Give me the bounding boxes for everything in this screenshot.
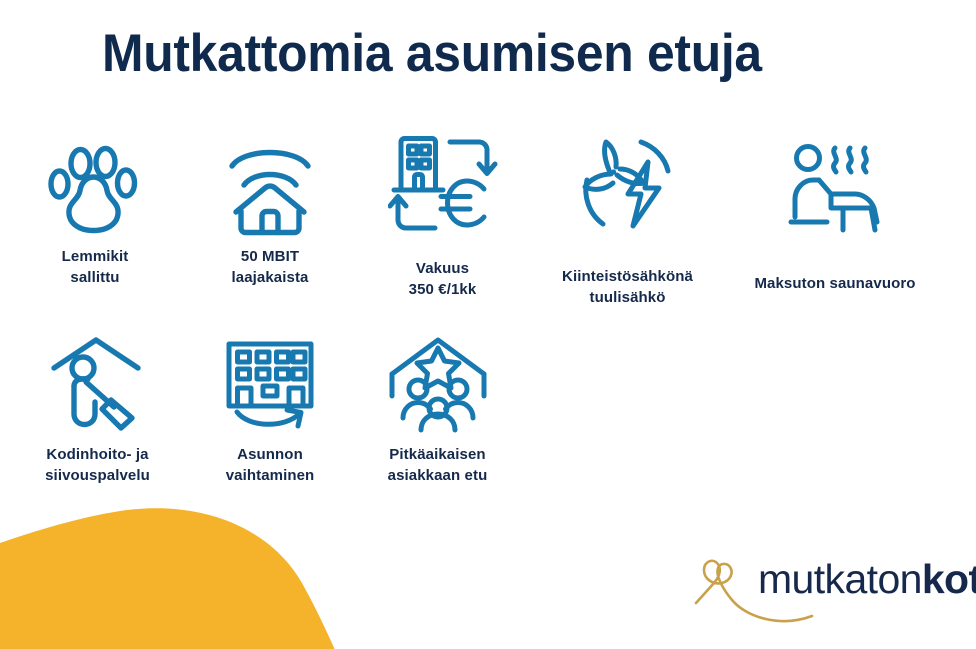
roof-person-mop-icon <box>48 330 148 434</box>
benefit-item-cleaning: Kodinhoito- ja siivouspalvelu <box>0 330 195 486</box>
benefits-row-1: Lemmikit sallittu 50 MBIT laajakaista <box>0 132 976 308</box>
benefit-label: Kiinteistösähkönä tuulisähkö <box>562 266 693 308</box>
benefit-label: Vakuus 350 €/1kk <box>409 258 477 300</box>
building-euro-exchange-icon <box>388 132 498 236</box>
benefits-row-2: Kodinhoito- ja siivouspalvelu <box>0 330 660 486</box>
paw-print-icon <box>45 132 145 236</box>
brand-logo[interactable]: mutkatonkoti <box>684 548 946 628</box>
page-title: Mutkattomia asumisen etuja <box>102 22 762 86</box>
logo-word-bold: koti <box>922 556 976 602</box>
benefit-label: 50 MBIT laajakaista <box>232 246 309 288</box>
benefit-label: Kodinhoito- ja siivouspalvelu <box>45 444 150 486</box>
benefit-label: Pitkäaikaisen asiakkaan etu <box>388 444 488 486</box>
benefit-item-wind-electricity: Kiinteistösähkönä tuulisähkö <box>535 132 720 308</box>
benefit-item-pets: Lemmikit sallittu <box>0 132 190 308</box>
wifi-house-icon <box>224 132 316 236</box>
benefit-label: Asunnon vaihtaminen <box>226 444 315 486</box>
slide-canvas: Mutkattomia asumisen etuja Lemmikit sall… <box>0 0 976 649</box>
amber-blob-decoration <box>0 497 410 649</box>
benefit-label: Lemmikit sallittu <box>62 246 129 288</box>
benefit-item-broadband: 50 MBIT laajakaista <box>190 132 350 308</box>
roof-star-people-icon <box>386 330 490 434</box>
sauna-person-steam-icon <box>785 132 885 236</box>
apartment-swap-arrow-icon <box>219 330 321 434</box>
benefit-item-deposit: Vakuus 350 €/1kk <box>350 132 535 308</box>
benefit-item-loyalty: Pitkäaikaisen asiakkaan etu <box>345 330 530 486</box>
benefit-label: Maksuton saunavuoro <box>754 273 915 294</box>
logo-wordmark: mutkatonkoti <box>758 556 976 602</box>
logo-word-light: mutkaton <box>758 556 922 602</box>
benefit-item-apartment-swap: Asunnon vaihtaminen <box>195 330 345 486</box>
benefit-item-sauna: Maksuton saunavuoro <box>720 132 950 308</box>
wind-turbine-bolt-icon <box>575 132 681 236</box>
